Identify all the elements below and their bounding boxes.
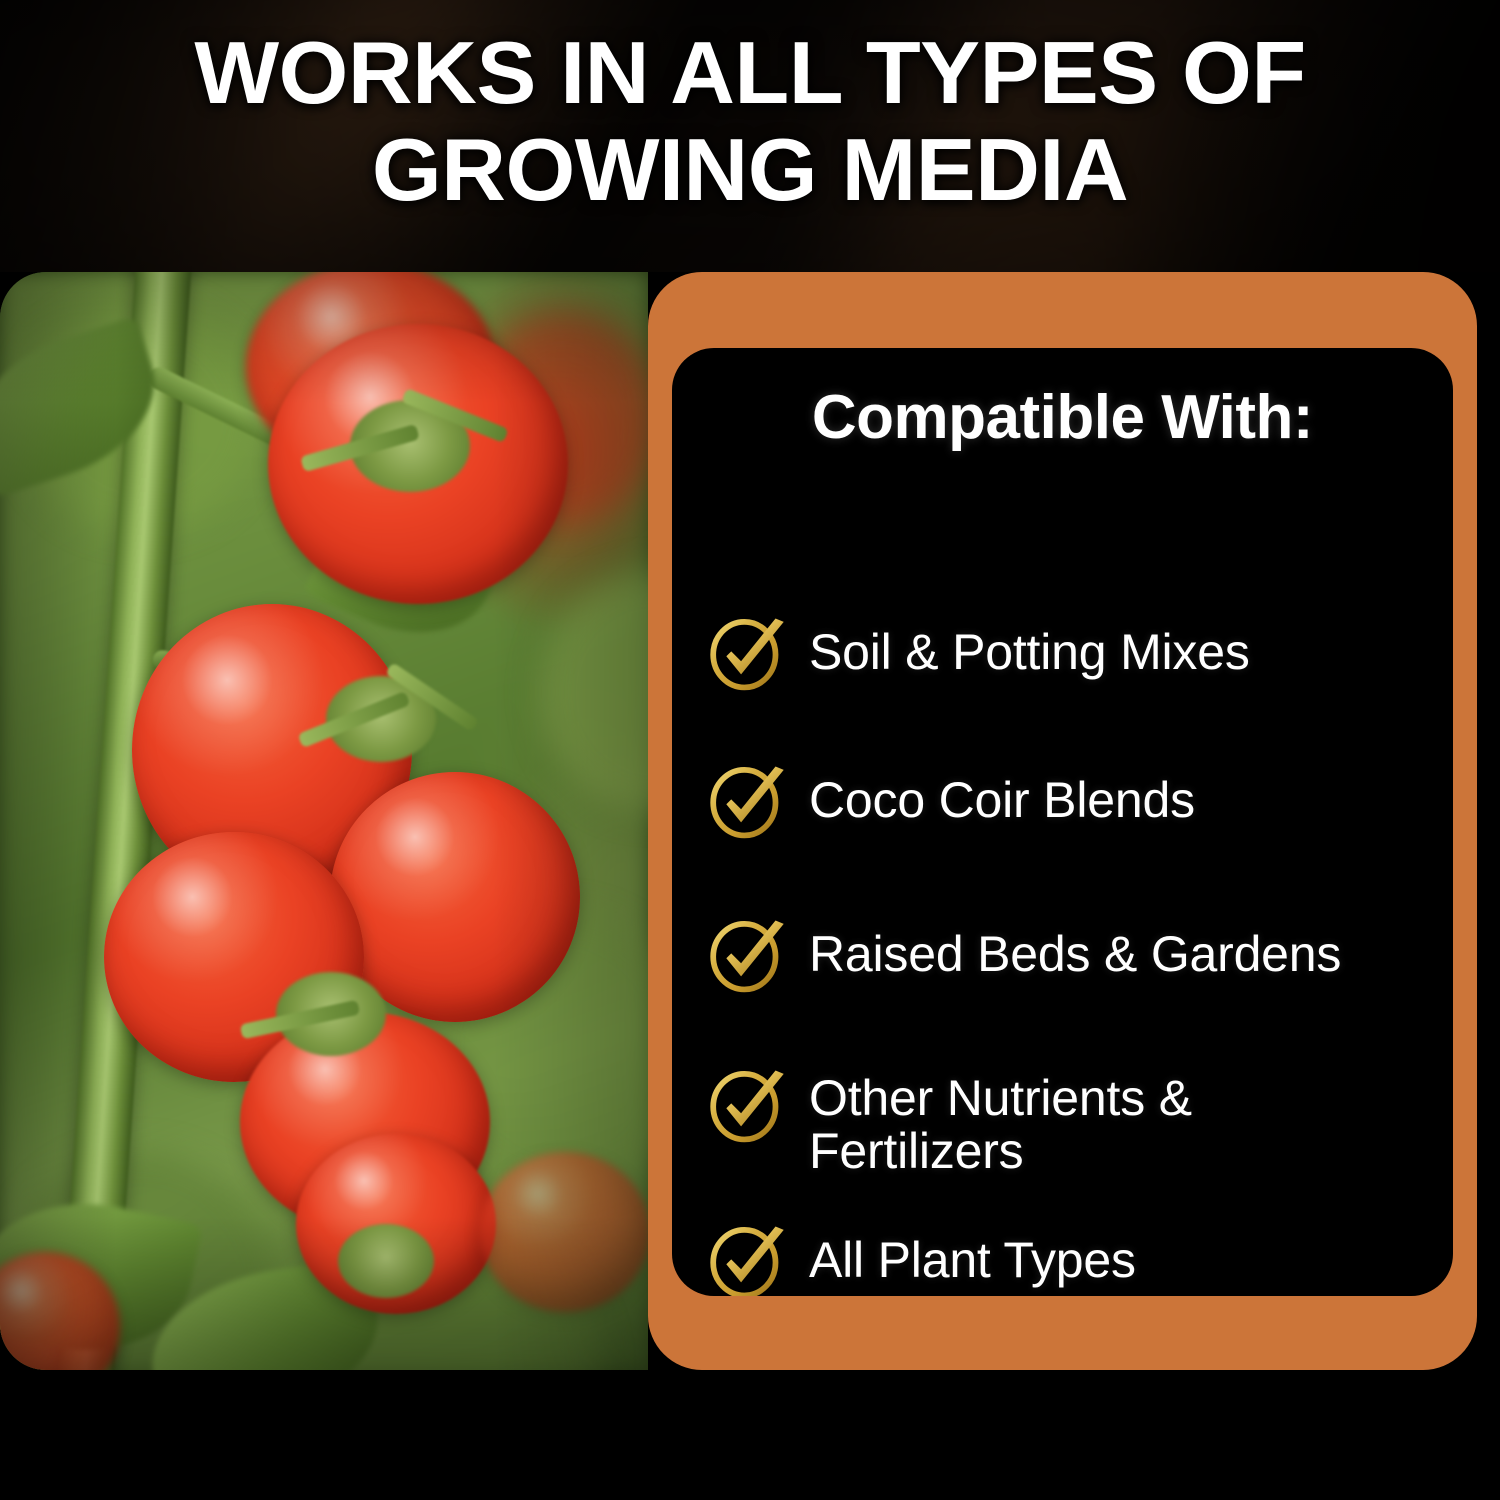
check-circle-icon (705, 612, 787, 694)
list-item: Raised Beds & Gardens (705, 920, 1445, 996)
header-band: WORKS IN ALL TYPES OF GROWING MEDIA (0, 0, 1500, 272)
page-title: WORKS IN ALL TYPES OF GROWING MEDIA (0, 24, 1500, 218)
product-infographic-canvas: WORKS IN ALL TYPES OF GROWING MEDIA (0, 0, 1500, 1500)
list-item-label: All Plant Types (809, 1226, 1136, 1287)
compatibility-heading: Compatible With: (672, 382, 1453, 454)
tomato-photo (0, 272, 648, 1370)
tomato-calyx (338, 1224, 434, 1298)
list-item-label: Coco Coir Blends (809, 766, 1195, 827)
compatibility-card: Compatible With: (672, 348, 1453, 1296)
tomato-fruit (480, 1152, 648, 1312)
bottom-black-strip (0, 1370, 1500, 1500)
check-circle-icon (705, 760, 787, 842)
list-item-label: Raised Beds & Gardens (809, 920, 1341, 981)
list-item: Coco Coir Blends (705, 766, 1445, 842)
compatibility-card-frame: Compatible With: (648, 272, 1477, 1370)
list-item: All Plant Types (705, 1226, 1445, 1296)
list-item: Soil & Potting Mixes (705, 618, 1445, 694)
check-circle-icon (705, 914, 787, 996)
list-item: Other Nutrients & Fertilizers (705, 1070, 1445, 1178)
list-item-label: Other Nutrients & Fertilizers (809, 1070, 1279, 1178)
check-circle-icon (705, 1220, 787, 1296)
list-item-label: Soil & Potting Mixes (809, 618, 1250, 679)
check-circle-icon (705, 1064, 787, 1146)
